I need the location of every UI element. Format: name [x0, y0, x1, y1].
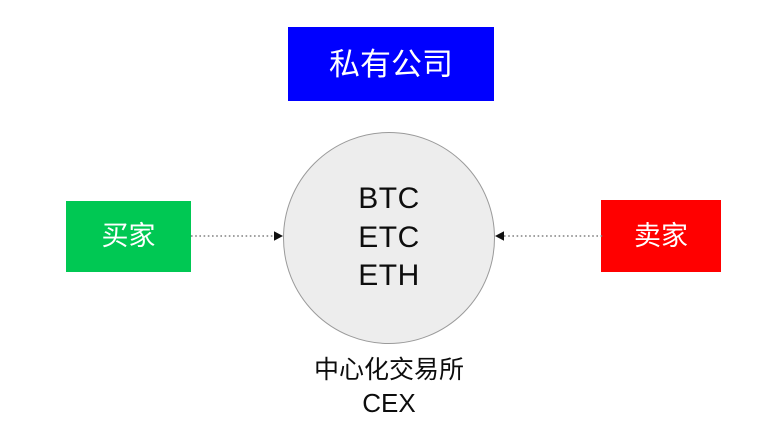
diagram-canvas: 私有公司 买家 卖家 BTC ETC ETH 中心化交易所 CEX: [0, 0, 780, 438]
coin-label-eth: ETH: [358, 257, 420, 295]
node-buyer[interactable]: 买家: [66, 201, 191, 272]
centralized-exchange-caption: 中心化交易所 CEX: [283, 355, 495, 420]
coin-label-etc: ETC: [358, 219, 420, 257]
coin-label-btc: BTC: [358, 180, 420, 218]
centralized-exchange-caption-line1: 中心化交易所: [314, 356, 464, 384]
node-seller-label: 卖家: [634, 223, 688, 250]
arrow-seller-to-exchange-icon: [493, 230, 603, 242]
node-centralized-exchange-coins: BTC ETC ETH: [283, 132, 495, 344]
centralized-exchange-caption-line2: CEX: [283, 387, 495, 420]
node-seller[interactable]: 卖家: [601, 200, 721, 272]
node-private-company-label: 私有公司: [329, 49, 453, 80]
arrow-buyer-to-exchange-icon: [191, 230, 285, 242]
node-private-company[interactable]: 私有公司: [288, 27, 494, 101]
node-buyer-label: 买家: [102, 223, 156, 250]
